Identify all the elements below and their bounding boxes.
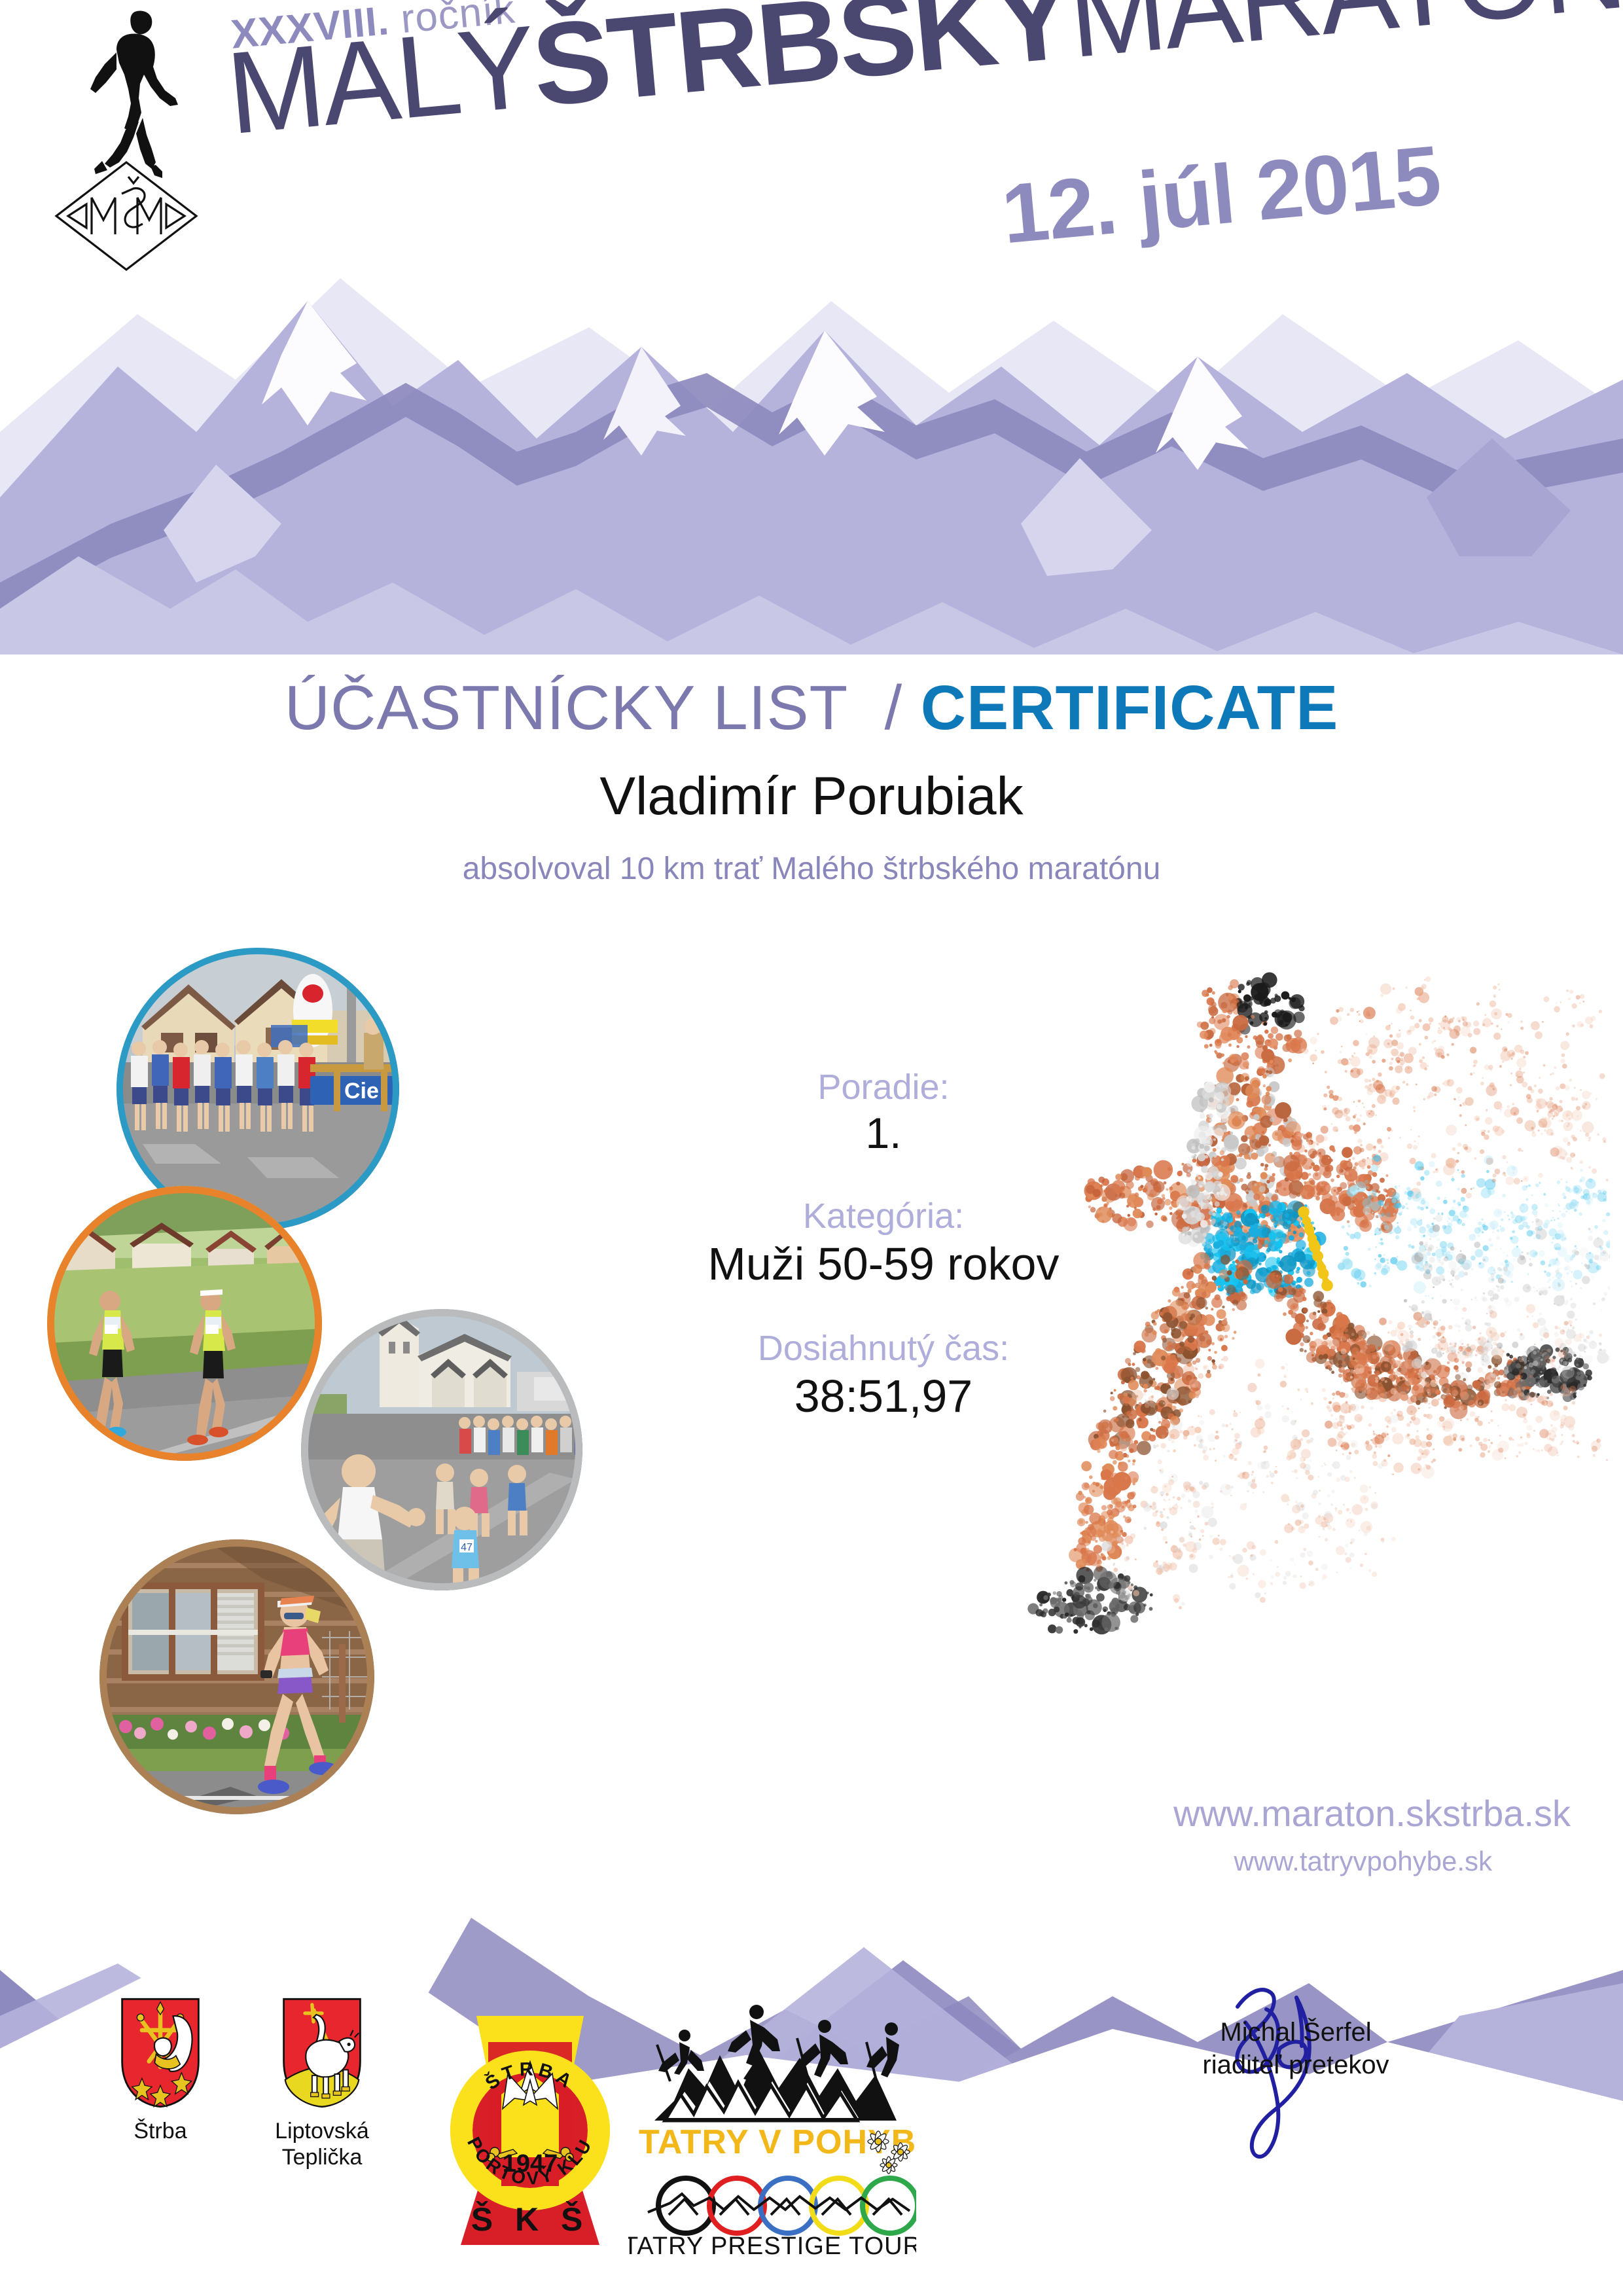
signature-name: Michal Šerfel [1106, 2016, 1486, 2049]
club-logo-bottom-text: Š K Š [471, 2200, 590, 2238]
url-secondary[interactable]: www.tatryvpohybe.sk [0, 1846, 1492, 1877]
signature-drawing [1175, 1983, 1371, 2179]
crest-strba-caption: Štrba [98, 2118, 223, 2144]
certificate-title-sk: ÚČASTNÍCKY LIST [285, 673, 848, 743]
event-title-part1: MALÝ [222, 1, 539, 159]
crest-strba: Štrba [98, 1996, 223, 2144]
photo-border-gray [301, 1309, 582, 1590]
photo-border-brown [99, 1539, 374, 1814]
footer-logos: Štrba [0, 1990, 1623, 2296]
crest-liptovska-teplicka-icon [279, 1996, 365, 2109]
crest-strba-icon [118, 1996, 203, 2109]
certificate-page: XXXVIII. ročník MALÝŠTRBSKÝMARATÓN 12. j… [0, 0, 1623, 2296]
runner-dot-artwork [1008, 962, 1610, 1695]
event-title-part2: ŠTRBSKÝ [527, 0, 1075, 131]
certificate-title-separator: / [884, 673, 902, 743]
photo-children-race: 47 [301, 1309, 582, 1590]
club-logo-sks: 1947 ŠTRBA ŠPORTOVÝ KLUB Š K Š [445, 1990, 615, 2268]
certificate-subtitle: absolvoval 10 km trať Malého štrbského m… [0, 851, 1623, 887]
photo-border-orange [47, 1186, 322, 1461]
crest-liptovska-teplicka: Liptovská Teplička [250, 1996, 394, 2170]
crest-liptovska-caption-line1: Liptovská [250, 2118, 394, 2144]
club-logo-sks-icon: 1947 ŠTRBA ŠPORTOVÝ KLUB Š K Š [445, 1990, 615, 2265]
header-banner: XXXVIII. ročník MALÝŠTRBSKÝMARATÓN 12. j… [0, 0, 1623, 655]
event-title-part3: MARATÓN [1063, 0, 1623, 82]
photo-two-runners [47, 1186, 322, 1461]
photo-woman-runner [99, 1539, 374, 1814]
url-primary[interactable]: www.maraton.skstrba.sk [0, 1792, 1571, 1835]
tatry-logos: TATRY V POHYBE [628, 1990, 916, 2268]
crest-liptovska-caption-line2: Teplička [250, 2144, 394, 2170]
participant-name: Vladimír Porubiak [0, 766, 1623, 827]
tatry-v-pohybe-icon: TATRY V POHYBE [628, 1990, 916, 2265]
signature-role: riaditeľ pretekov [1106, 2049, 1486, 2081]
certificate-title: ÚČASTNÍCKY LIST / CERTIFICATE [0, 672, 1623, 744]
signature-block: Michal Šerfel riaditeľ pretekov [1106, 2016, 1486, 2081]
mountain-banner-top [0, 216, 1623, 655]
tatry-prestige-tour-subtitle: TATRY PRESTIGE TOUR [628, 2233, 916, 2260]
certificate-title-en: CERTIFICATE [921, 673, 1339, 743]
